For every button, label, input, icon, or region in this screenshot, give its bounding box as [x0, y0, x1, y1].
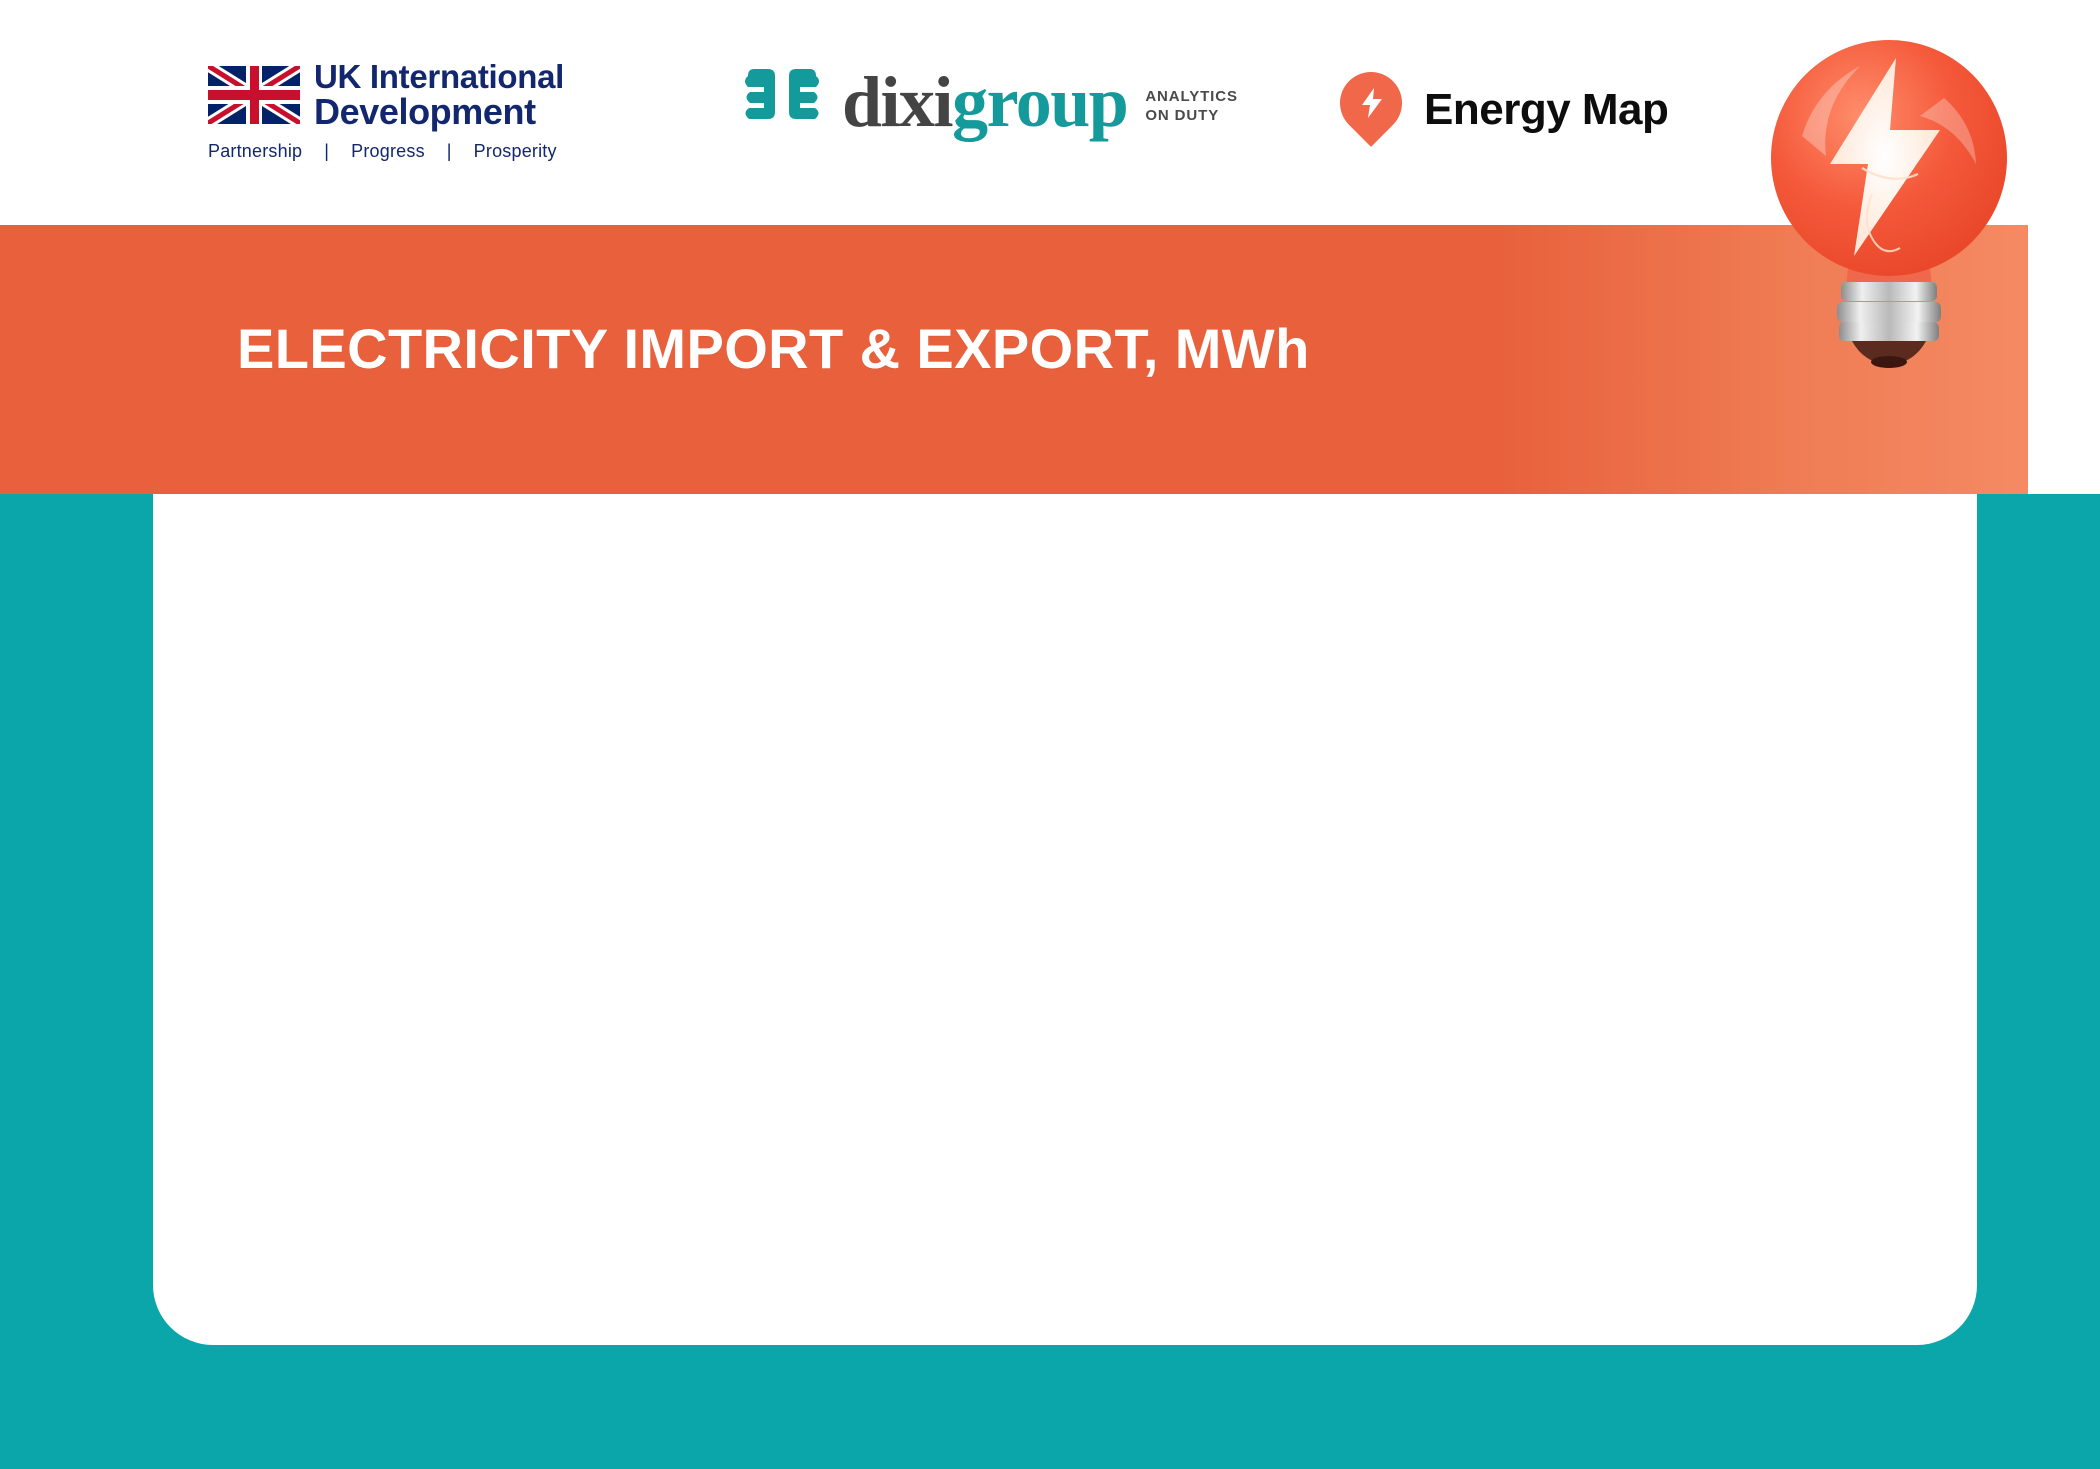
- group-word: group: [952, 62, 1127, 142]
- page-title: ELECTRICITY IMPORT & EXPORT, MWh: [237, 316, 1310, 381]
- tagline-separator-1: |: [324, 141, 329, 162]
- dixigroup-tagline-line1: ANALYTICS: [1145, 88, 1238, 107]
- content-card: [153, 494, 1977, 1345]
- map-pin-icon: [1340, 72, 1402, 148]
- dixigroup-tagline: ANALYTICS ON DUTY: [1145, 88, 1238, 126]
- dixigroup-tagline-line2: ON DUTY: [1145, 107, 1238, 126]
- slide-root: ELECTRICITY IMPORT & EXPORT, MWh UK Inte…: [0, 0, 2100, 1469]
- dixigroup-brain-icon: [740, 62, 824, 142]
- tagline-partnership: Partnership: [208, 141, 302, 162]
- tagline-progress: Progress: [351, 141, 425, 162]
- uk-logo-line2: Development: [314, 94, 564, 131]
- light-bulb-image: [1744, 18, 2034, 368]
- uk-logo-tagline: Partnership | Progress | Prosperity: [208, 141, 588, 162]
- dixi-word: dixi: [842, 62, 952, 142]
- energy-map-logo: Energy Map: [1340, 72, 1668, 148]
- tagline-prosperity: Prosperity: [474, 141, 557, 162]
- union-jack-icon: [208, 66, 300, 124]
- uk-international-development-logo: UK International Development Partnership…: [208, 60, 588, 162]
- energy-map-label: Energy Map: [1424, 85, 1668, 135]
- dixigroup-logo: dixigroup ANALYTICS ON DUTY: [740, 62, 1238, 142]
- tagline-separator-2: |: [447, 141, 452, 162]
- uk-logo-line1: UK International: [314, 60, 564, 94]
